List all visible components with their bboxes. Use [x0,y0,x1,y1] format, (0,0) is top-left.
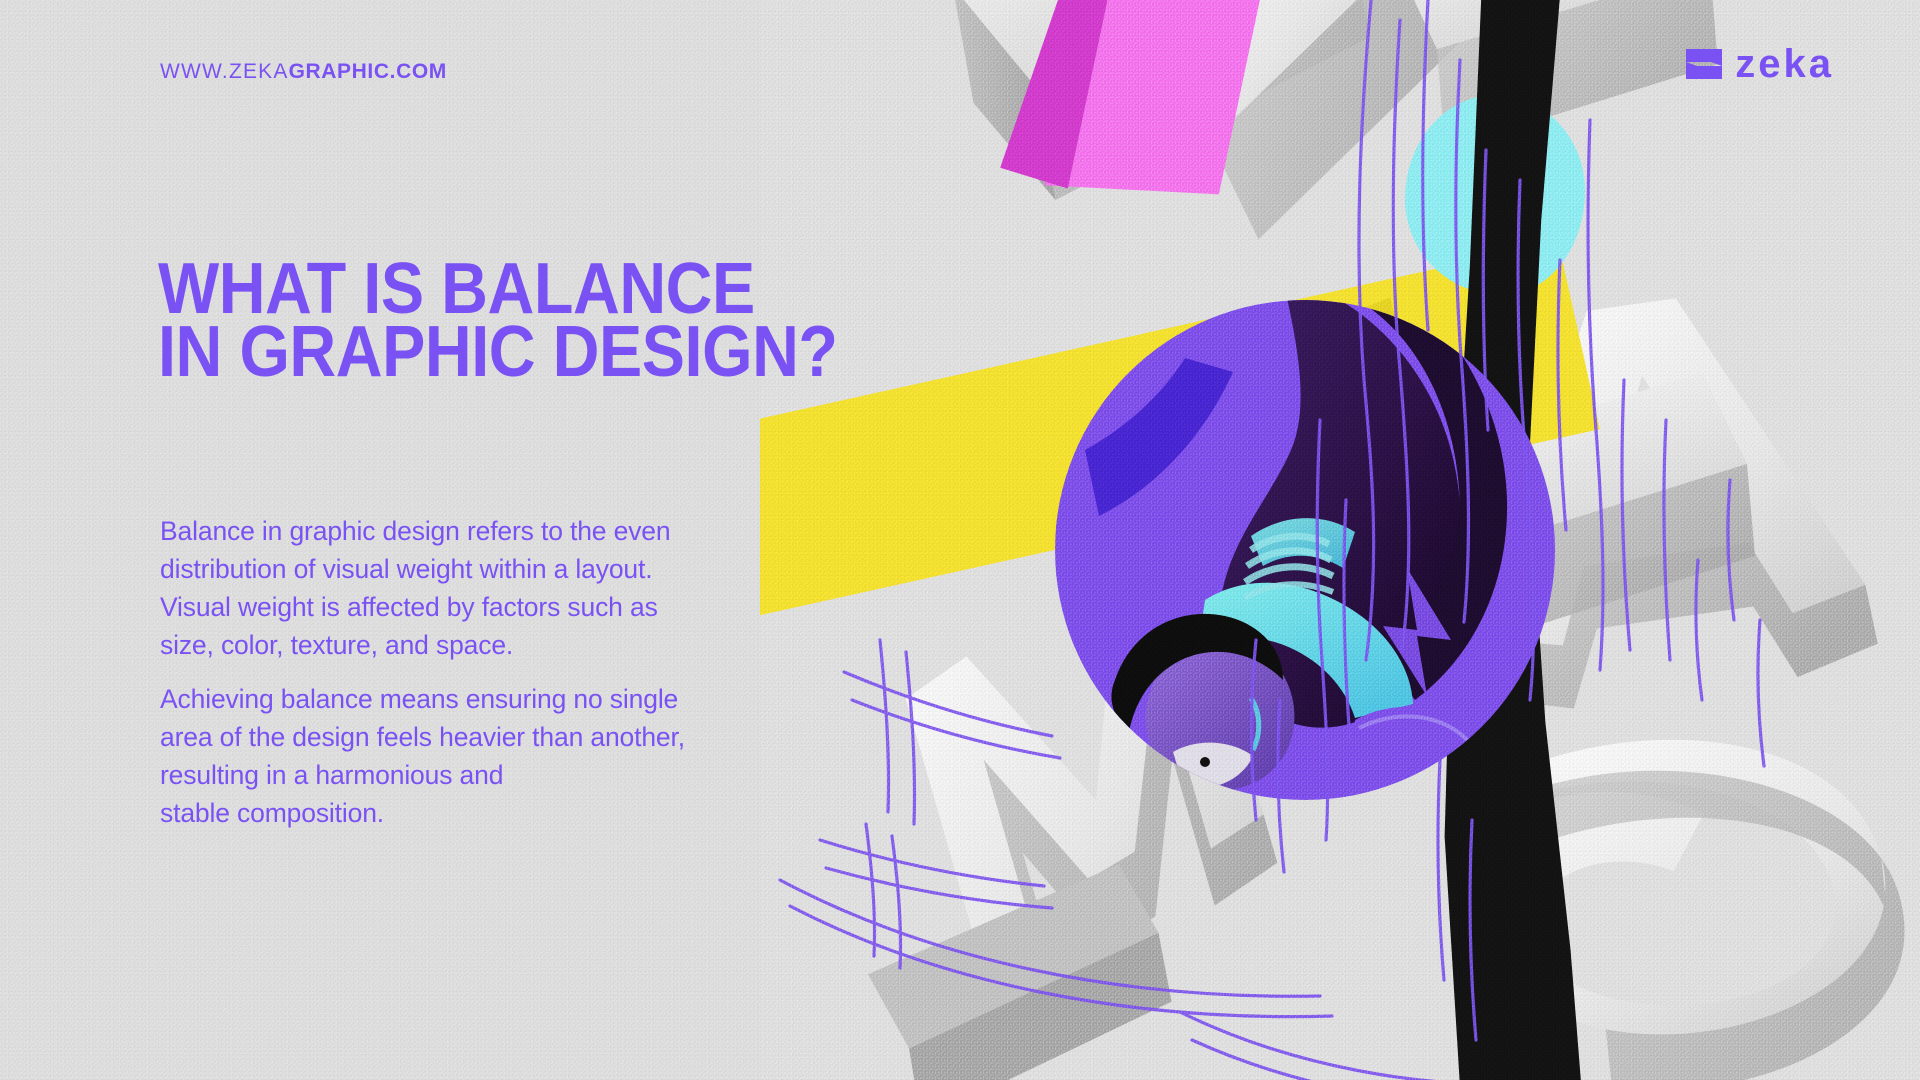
site-url[interactable]: WWW.ZEKAGRAPHIC.COM [160,60,447,84]
site-url-light: WWW.ZEKA [160,60,289,83]
paragraph-2-line-3: resulting in a harmonious and [160,756,860,794]
zeka-wordmark: zeka [1735,44,1834,84]
paragraph-2-line-2: area of the design feels heavier than an… [160,718,860,756]
headline-line-2: IN GRAPHIC DESIGN? [158,321,838,384]
paragraph-1-line-4: size, color, texture, and space. [160,626,860,664]
paragraph-1-line-2: distribution of visual weight within a l… [160,550,860,588]
purple-circle-photo-mask [1055,300,1555,800]
zeka-slash-square-mark [1686,49,1722,79]
site-url-bold: GRAPHIC.COM [289,60,447,83]
paragraph-1-line-3: Visual weight is affected by factors suc… [160,588,860,626]
figure-knee-block [1341,707,1485,800]
duotone-figure-photo [1055,300,1555,800]
body-paragraph-2: Achieving balance means ensuring no sing… [160,680,860,832]
body-paragraph-1: Balance in graphic design refers to the … [160,512,860,664]
collage-artwork [760,0,1920,1080]
paragraph-1-line-1: Balance in graphic design refers to the … [160,512,860,550]
paragraph-2-line-1: Achieving balance means ensuring no sing… [160,680,860,718]
page-title: WHAT IS BALANCE IN GRAPHIC DESIGN? [158,258,838,385]
poster-canvas: WWW.ZEKAGRAPHIC.COM zeka WHAT IS BALANCE… [0,0,1920,1080]
paragraph-2-line-4: stable composition. [160,794,860,832]
zeka-logo[interactable]: zeka [1686,44,1834,84]
